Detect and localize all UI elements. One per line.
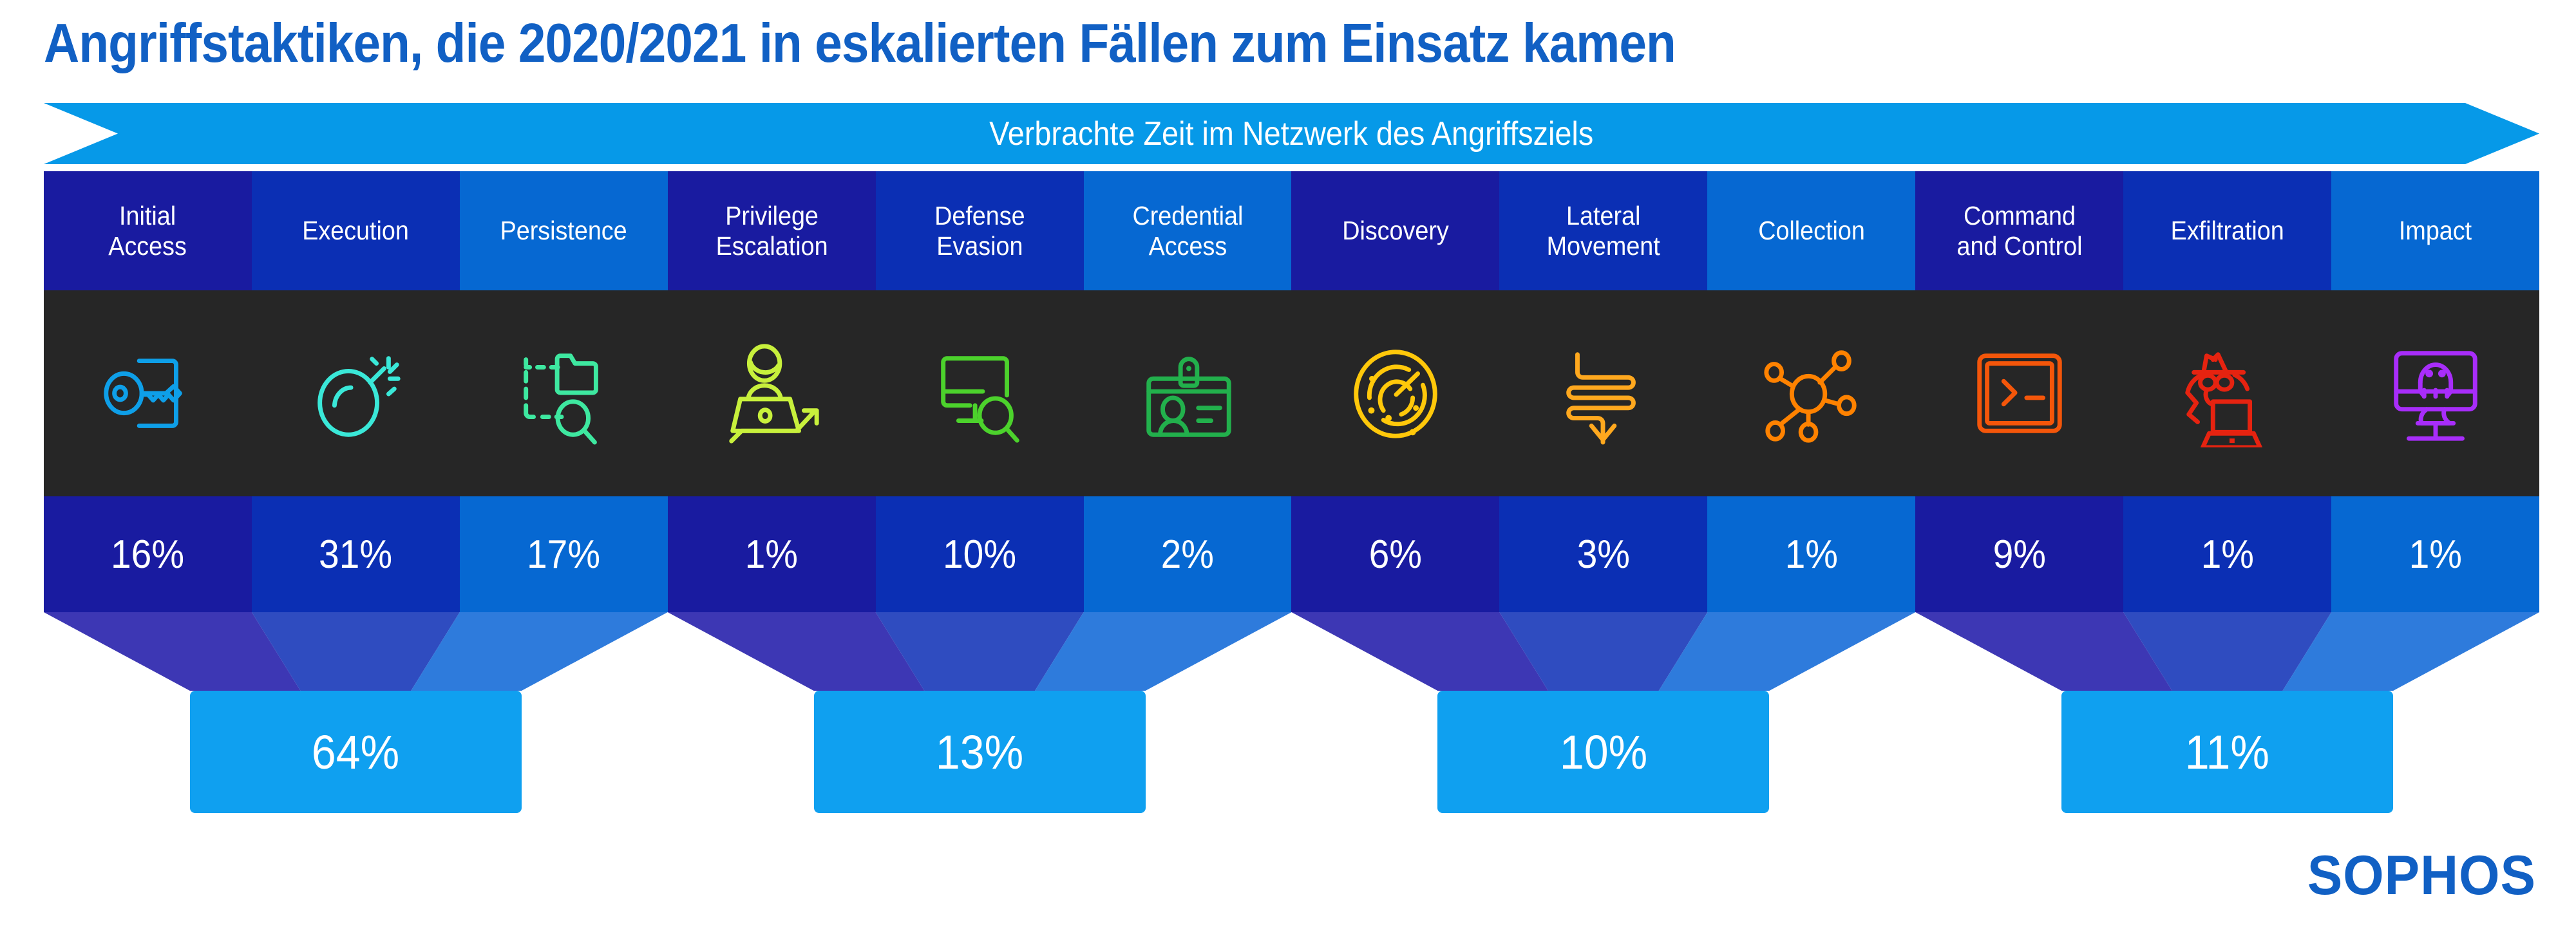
- tactic-percent-credential: 2%: [1084, 496, 1292, 612]
- tactic-percent-value: 1%: [2201, 532, 2253, 577]
- tactic-percent-discovery: 6%: [1291, 496, 1499, 612]
- tactic-percent-value: 1%: [1785, 532, 1837, 577]
- funnel-segment-shape: [44, 612, 2539, 691]
- tactic-percent-impact: 1%: [2331, 496, 2539, 612]
- group-total-box-1[interactable]: 64%: [190, 691, 522, 813]
- tactic-percent-value: 2%: [1161, 532, 1214, 577]
- tactic-header-initial[interactable]: InitialAccess: [44, 171, 252, 290]
- tactic-percent-collection: 1%: [1707, 496, 1915, 612]
- tactic-percent-command: 9%: [1915, 496, 2123, 612]
- sophos-logo: SOPHOS: [2307, 844, 2536, 908]
- radar-scan-icon: [1291, 290, 1499, 496]
- tactic-header-execution[interactable]: Execution: [252, 171, 460, 290]
- tactic-header-privilege[interactable]: PrivilegeEscalation: [668, 171, 876, 290]
- infographic-page: Angriffstaktiken, die 2020/2021 in eskal…: [0, 0, 2576, 927]
- page-title: Angriffstaktiken, die 2020/2021 in eskal…: [44, 14, 1676, 73]
- spy-laptop-icon: [2123, 290, 2331, 496]
- tactic-header-label: DefenseEvasion: [934, 201, 1025, 261]
- tactic-header-label: CredentialAccess: [1132, 201, 1243, 261]
- tactic-percent-value: 3%: [1577, 532, 1630, 577]
- tactic-header-row: InitialAccessExecutionPersistencePrivile…: [44, 171, 2539, 290]
- tactic-header-label: Impact: [2399, 216, 2472, 246]
- group-total-box-3[interactable]: 10%: [1437, 691, 1769, 813]
- group-total-box-2[interactable]: 13%: [814, 691, 1146, 813]
- tactic-header-label: Persistence: [500, 216, 627, 246]
- id-badge-icon: [1084, 290, 1292, 496]
- group-total-value: 13%: [936, 725, 1023, 780]
- tactic-header-impact[interactable]: Impact: [2331, 171, 2539, 290]
- tactic-percent-initial: 16%: [44, 496, 252, 612]
- tactic-percent-value: 31%: [319, 532, 392, 577]
- tactic-header-label: Commandand Control: [1956, 201, 2082, 261]
- tactic-header-lateral[interactable]: LateralMovement: [1499, 171, 1707, 290]
- group-total-value: 10%: [1560, 725, 1647, 780]
- network-hub-icon: [1707, 290, 1915, 496]
- key-door-icon: [44, 290, 252, 496]
- tactic-header-label: InitialAccess: [109, 201, 187, 261]
- group-total-value: 11%: [2185, 725, 2269, 780]
- tactic-icon-row: [44, 290, 2539, 496]
- tactic-header-label: Discovery: [1342, 216, 1449, 246]
- tactic-header-command[interactable]: Commandand Control: [1915, 171, 2123, 290]
- tactic-percent-execution: 31%: [252, 496, 460, 612]
- tactic-percent-privilege: 1%: [668, 496, 876, 612]
- tactic-header-persistence[interactable]: Persistence: [460, 171, 668, 290]
- folder-search-icon: [460, 290, 668, 496]
- tactic-percent-value: 6%: [1369, 532, 1422, 577]
- tactic-header-label: Exfiltration: [2170, 216, 2284, 246]
- tactic-header-label: LateralMovement: [1547, 201, 1660, 261]
- tactic-percent-defense: 10%: [876, 496, 1084, 612]
- user-laptop-arrow-icon: [668, 290, 876, 496]
- tactic-header-label: Execution: [303, 216, 410, 246]
- monitor-skull-icon: [2331, 290, 2539, 496]
- group-totals: 64%13%10%11%: [44, 691, 2539, 813]
- zigzag-arrow-down-icon: [1499, 290, 1707, 496]
- tactic-percent-row: 16%31%17%1%10%2%6%3%1%9%1%1%: [44, 496, 2539, 612]
- group-total-value: 64%: [312, 725, 399, 780]
- bomb-icon: [252, 290, 460, 496]
- tactic-header-exfiltration[interactable]: Exfiltration: [2123, 171, 2331, 290]
- time-in-network-banner: Verbrachte Zeit im Netzwerk des Angriffs…: [44, 103, 2539, 164]
- tactic-percent-value: 17%: [527, 532, 600, 577]
- tactic-header-label: PrivilegeEscalation: [715, 201, 828, 261]
- tactic-header-credential[interactable]: CredentialAccess: [1084, 171, 1292, 290]
- tactic-percent-value: 16%: [111, 532, 184, 577]
- tactic-percent-value: 9%: [1993, 532, 2045, 577]
- terminal-icon: [1915, 290, 2123, 496]
- tactic-header-label: Collection: [1758, 216, 1865, 246]
- tactic-percent-lateral: 3%: [1499, 496, 1707, 612]
- tactic-funnel-row: [44, 612, 2539, 691]
- tactic-header-discovery[interactable]: Discovery: [1291, 171, 1499, 290]
- tactic-percent-value: 1%: [2409, 532, 2461, 577]
- banner-label: Verbrachte Zeit im Netzwerk des Angriffs…: [989, 115, 1593, 153]
- tactic-percent-value: 1%: [745, 532, 798, 577]
- tactic-percent-exfiltration: 1%: [2123, 496, 2331, 612]
- monitor-search-icon: [876, 290, 1084, 496]
- tactic-percent-value: 10%: [943, 532, 1016, 577]
- tactic-percent-persistence: 17%: [460, 496, 668, 612]
- group-total-box-4[interactable]: 11%: [2061, 691, 2393, 813]
- tactic-header-collection[interactable]: Collection: [1707, 171, 1915, 290]
- funnel-segment: [44, 612, 2539, 691]
- tactic-header-defense[interactable]: DefenseEvasion: [876, 171, 1084, 290]
- tactics-matrix: InitialAccessExecutionPersistencePrivile…: [44, 171, 2539, 691]
